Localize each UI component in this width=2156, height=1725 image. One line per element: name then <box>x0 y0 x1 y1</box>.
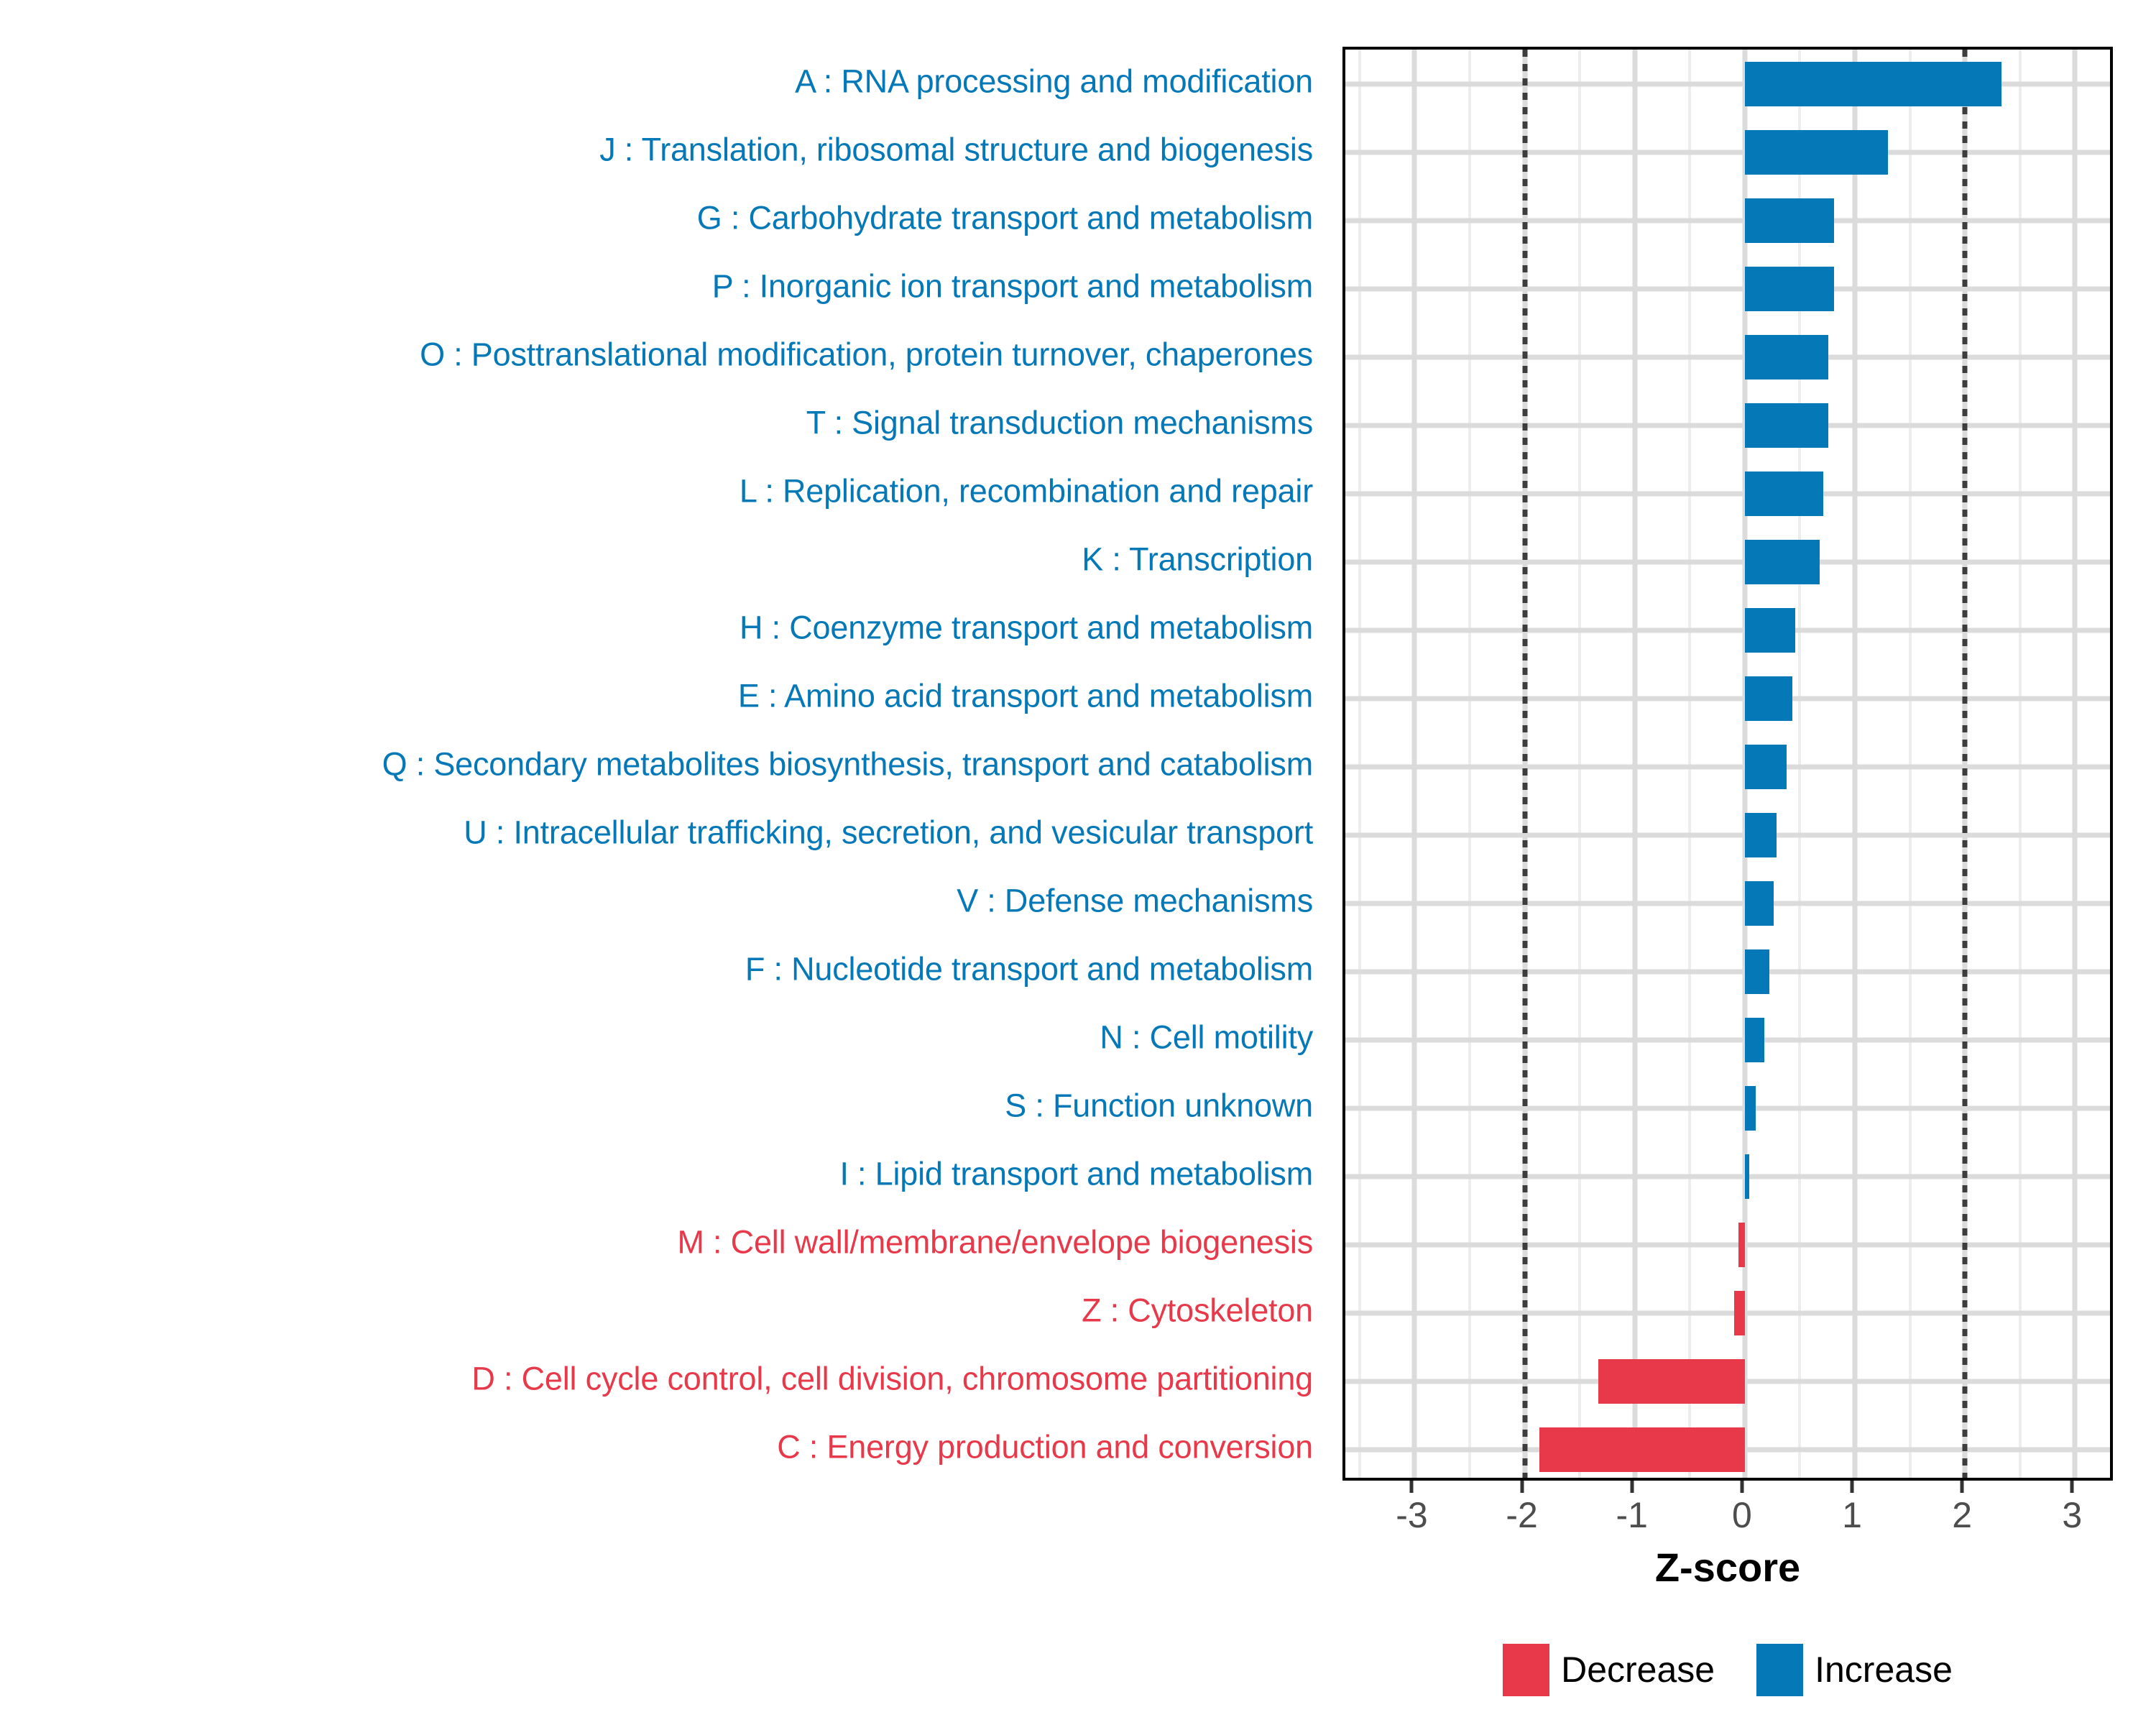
cog-zscore-figure: A : RNA processing and modificationJ : T… <box>0 0 2156 1725</box>
legend-swatch-decrease <box>1503 1644 1549 1696</box>
gridline-horizontal <box>1345 1242 2110 1247</box>
gridline-horizontal <box>1345 901 2110 906</box>
x-tick-mark <box>2070 1481 2074 1493</box>
x-tick-mark <box>1961 1481 1964 1493</box>
bar[interactable] <box>1745 949 1769 994</box>
category-label: T : Signal transduction mechanisms <box>0 406 1326 438</box>
category-label: G : Carbohydrate transport and metabolis… <box>0 201 1326 234</box>
category-label: J : Translation, ribosomal structure and… <box>0 133 1326 165</box>
category-label: K : Transcription <box>0 543 1326 575</box>
gridline-horizontal <box>1345 218 2110 223</box>
category-label: Q : Secondary metabolites biosynthesis, … <box>0 747 1326 780</box>
category-label-column: A : RNA processing and modificationJ : T… <box>0 47 1326 1481</box>
plot-panel-inner <box>1345 50 2110 1478</box>
category-label: S : Function unknown <box>0 1089 1326 1121</box>
bar[interactable] <box>1745 198 1834 243</box>
bar[interactable] <box>1745 540 1820 584</box>
legend-label-decrease: Decrease <box>1561 1651 1715 1688</box>
bar[interactable] <box>1745 130 1888 175</box>
category-label: M : Cell wall/membrane/envelope biogenes… <box>0 1225 1326 1258</box>
legend-item-increase[interactable]: Increase <box>1756 1644 1953 1696</box>
bar[interactable] <box>1745 745 1787 789</box>
gridline-horizontal <box>1345 696 2110 701</box>
x-tick-mark <box>1520 1481 1524 1493</box>
bar[interactable] <box>1745 267 1834 311</box>
category-label: U : Intracellular trafficking, secretion… <box>0 816 1326 848</box>
bar[interactable] <box>1598 1359 1745 1404</box>
gridline-horizontal <box>1345 149 2110 155</box>
category-label: P : Inorganic ion transport and metaboli… <box>0 270 1326 302</box>
x-tick-label: 1 <box>1842 1496 1862 1534</box>
bar[interactable] <box>1745 881 1774 926</box>
x-axis-title: Z-score <box>1342 1544 2113 1591</box>
bar[interactable] <box>1745 471 1823 516</box>
gridline-horizontal <box>1345 559 2110 564</box>
category-label: I : Lipid transport and metabolism <box>0 1157 1326 1190</box>
bar[interactable] <box>1745 1018 1765 1062</box>
gridline-horizontal <box>1345 832 2110 837</box>
category-label: A : RNA processing and modification <box>0 65 1326 97</box>
x-tick-mark <box>1851 1481 1854 1493</box>
x-tick-label: -3 <box>1396 1496 1427 1534</box>
bar[interactable] <box>1745 403 1828 448</box>
x-tick-label: 0 <box>1732 1496 1752 1534</box>
bar[interactable] <box>1745 608 1795 653</box>
gridline-horizontal <box>1345 1037 2110 1042</box>
gridline-horizontal <box>1345 423 2110 428</box>
x-tick-label: 2 <box>1952 1496 1972 1534</box>
gridline-horizontal <box>1345 1105 2110 1110</box>
bar[interactable] <box>1738 1223 1745 1267</box>
legend-swatch-increase <box>1756 1644 1803 1696</box>
bar[interactable] <box>1539 1427 1745 1472</box>
bar[interactable] <box>1745 1154 1749 1199</box>
x-tick-mark <box>1740 1481 1743 1493</box>
gridline-horizontal <box>1345 969 2110 974</box>
x-tick-mark <box>1630 1481 1634 1493</box>
bar[interactable] <box>1745 813 1777 857</box>
bar[interactable] <box>1734 1291 1745 1335</box>
category-label: F : Nucleotide transport and metabolism <box>0 952 1326 985</box>
bar[interactable] <box>1745 1086 1756 1131</box>
bar[interactable] <box>1745 62 2001 106</box>
gridline-horizontal <box>1345 1174 2110 1179</box>
category-label: L : Replication, recombination and repai… <box>0 474 1326 507</box>
x-tick-label: -2 <box>1506 1496 1537 1534</box>
bar[interactable] <box>1745 676 1792 721</box>
category-label: V : Defense mechanisms <box>0 884 1326 916</box>
gridline-horizontal <box>1345 286 2110 291</box>
category-label: E : Amino acid transport and metabolism <box>0 679 1326 712</box>
bar[interactable] <box>1745 335 1828 379</box>
gridline-horizontal <box>1345 764 2110 769</box>
reference-line-positive-2 <box>1963 50 1968 1478</box>
legend-item-decrease[interactable]: Decrease <box>1503 1644 1715 1696</box>
gridline-horizontal <box>1345 1310 2110 1315</box>
category-label: C : Energy production and conversion <box>0 1430 1326 1463</box>
x-tick-mark <box>1410 1481 1414 1493</box>
category-label: H : Coenzyme transport and metabolism <box>0 611 1326 643</box>
gridline-horizontal <box>1345 491 2110 496</box>
gridline-horizontal <box>1345 354 2110 359</box>
gridline-horizontal <box>1345 627 2110 632</box>
category-label: D : Cell cycle control, cell division, c… <box>0 1362 1326 1394</box>
x-tick-label: 3 <box>2062 1496 2082 1534</box>
category-label: Z : Cytoskeleton <box>0 1294 1326 1326</box>
reference-line-negative-2 <box>1522 50 1527 1478</box>
x-tick-label: -1 <box>1616 1496 1648 1534</box>
category-label: N : Cell motility <box>0 1021 1326 1053</box>
category-label: O : Posttranslational modification, prot… <box>0 338 1326 370</box>
plot-panel <box>1342 47 2113 1481</box>
legend-label-increase: Increase <box>1815 1651 1953 1688</box>
chart-legend: DecreaseIncrease <box>1342 1630 2113 1709</box>
